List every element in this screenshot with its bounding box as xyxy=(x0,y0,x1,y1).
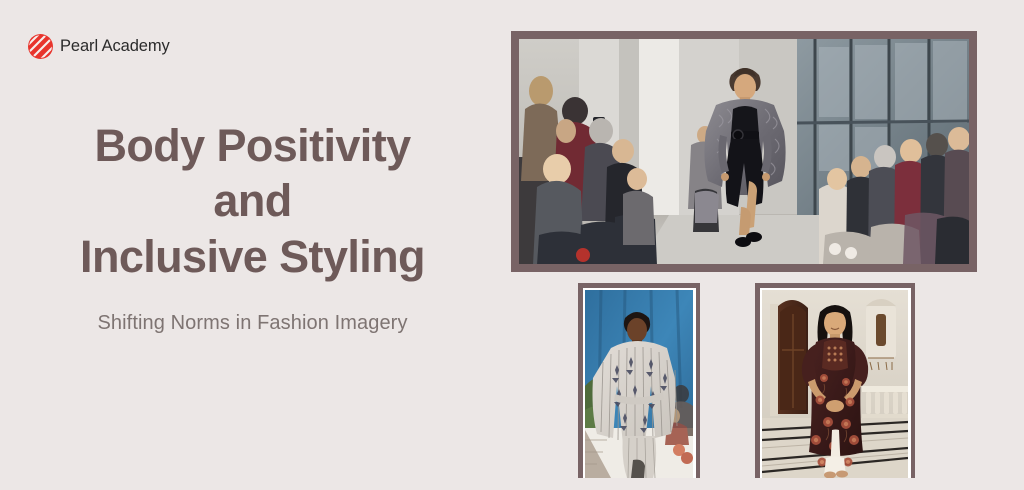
headline-block: Body Positivity and Inclusive Styling Sh… xyxy=(0,118,505,336)
male-model-striped-robe-coat-photo xyxy=(585,290,693,478)
runway-plus-size-model-photo xyxy=(519,39,969,264)
subtitle: Shifting Norms in Fashion Imagery xyxy=(0,310,505,336)
brand-logo[interactable]: Pearl Academy xyxy=(28,34,170,59)
headline-line-3: Inclusive Styling xyxy=(24,229,481,284)
striped-sphere-logo-icon xyxy=(28,34,53,59)
brand-name: Pearl Academy xyxy=(60,38,170,55)
headline-line-2: and xyxy=(24,173,481,228)
slide-canvas: Pearl Academy Body Positivity and Inclus… xyxy=(0,0,1024,490)
page-title: Body Positivity and Inclusive Styling xyxy=(0,118,505,284)
headline-line-1: Body Positivity xyxy=(24,118,481,173)
woman-floral-kurta-photo xyxy=(762,290,908,478)
